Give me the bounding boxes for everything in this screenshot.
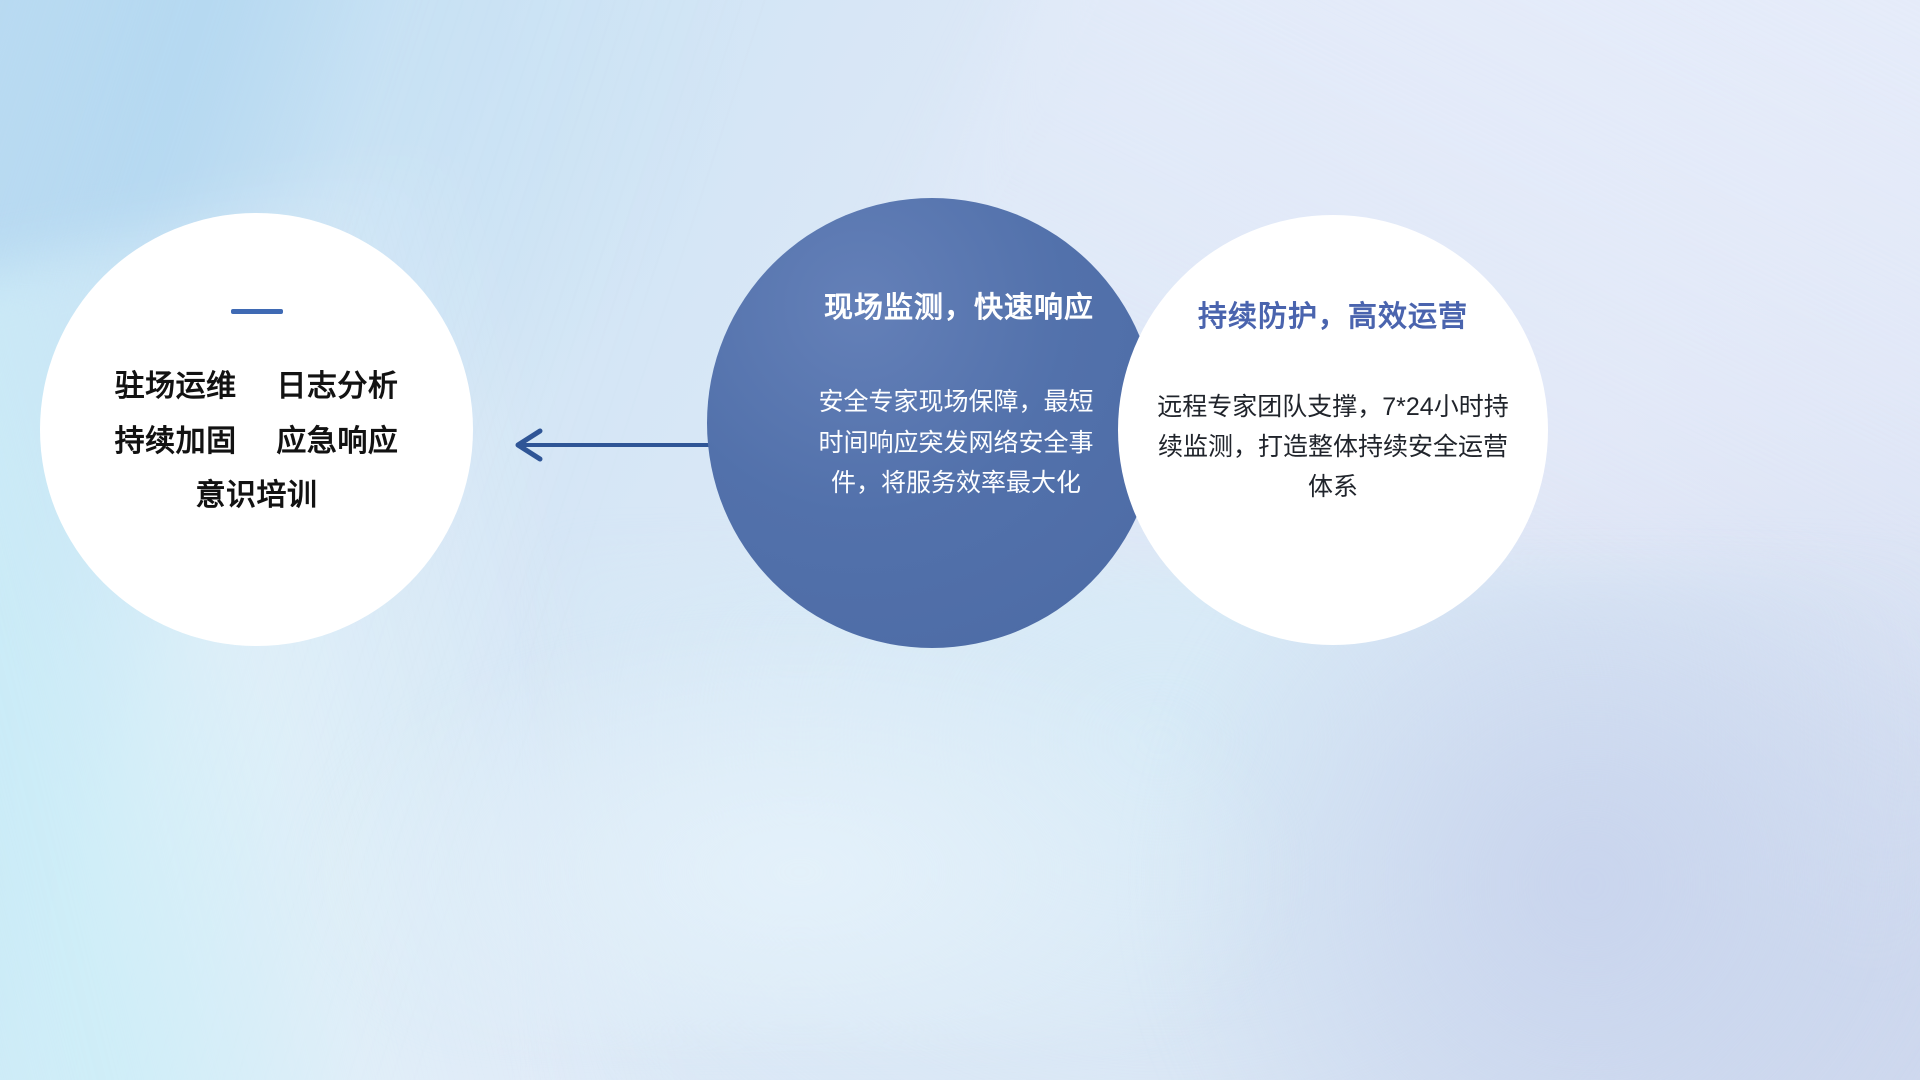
left-service-list: 驻场运维 日志分析 持续加固 应急响应 意识培训 [115,360,399,524]
right-card-title: 持续防护，高效运营 [1198,293,1468,335]
horizontal-dash-icon [231,309,283,314]
service-label: 意识培训 [196,479,318,512]
right-card-body: 远程专家团队支撑，7*24小时持续监测，打造整体持续安全运营体系 [1155,387,1511,507]
background-glow [300,620,1300,1040]
service-label: 应急响应 [276,425,398,458]
middle-card-body: 安全专家现场保障，最短时间响应突发网络安全事件，将服务效率最大化 [812,382,1100,504]
middle-card-title: 现场监测，快速响应 [824,284,1094,326]
list-item: 持续加固 应急响应 [115,415,399,470]
service-label: 持续加固 [115,425,237,458]
list-item: 驻场运维 日志分析 [115,360,399,415]
infographic-canvas: 驻场运维 日志分析 持续加固 应急响应 意识培训 现场监测，快速响应 安全专家现… [0,0,1920,1080]
left-service-circle: 驻场运维 日志分析 持续加固 应急响应 意识培训 [40,213,473,646]
service-label: 驻场运维 [115,370,237,403]
middle-highlight-circle: 现场监测，快速响应 安全专家现场保障，最短时间响应突发网络安全事件，将服务效率最… [707,198,1157,648]
service-label: 日志分析 [276,370,398,403]
list-item: 意识培训 [115,469,399,524]
right-service-circle: 持续防护，高效运营 远程专家团队支撑，7*24小时持续监测，打造整体持续安全运营… [1118,215,1548,645]
